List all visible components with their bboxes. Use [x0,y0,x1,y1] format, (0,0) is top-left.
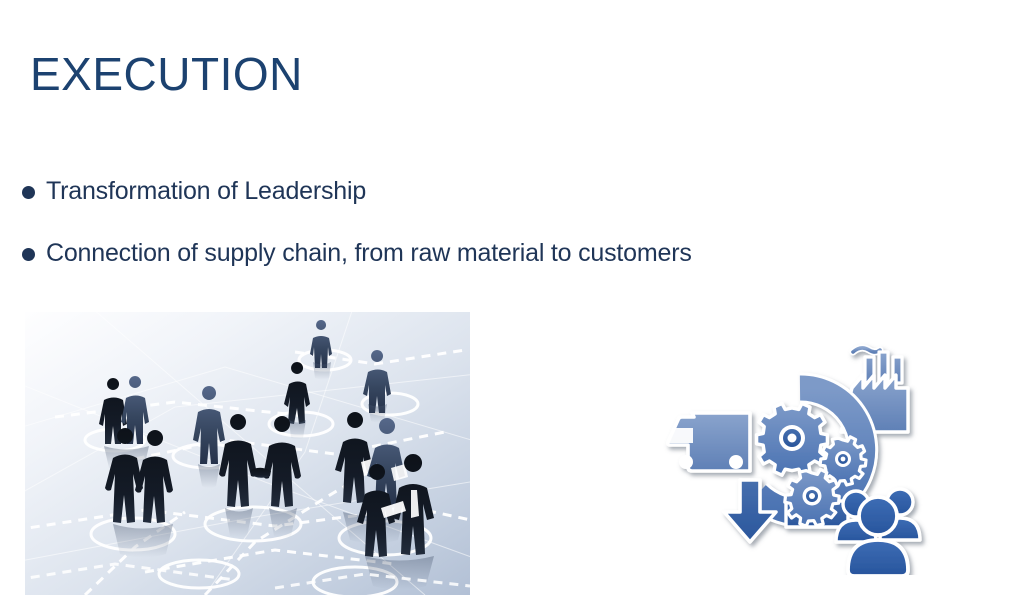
bullet-text: Transformation of Leadership [46,176,366,206]
supply-chain-icon [660,330,945,575]
list-item: Transformation of Leadership [22,176,982,206]
bullet-list: Transformation of Leadership Connection … [22,176,982,300]
networking-illustration [25,312,470,595]
list-item: Connection of supply chain, from raw mat… [22,238,982,268]
bullet-text: Connection of supply chain, from raw mat… [46,238,692,268]
bullet-dot-icon [22,186,35,199]
supply-chain-illustration [660,330,945,575]
people-group-icon [836,489,920,575]
business-networking-photo [25,312,470,595]
page-title: EXECUTION [30,46,303,102]
delivery-truck-icon [668,413,750,471]
bullet-dot-icon [22,248,35,261]
